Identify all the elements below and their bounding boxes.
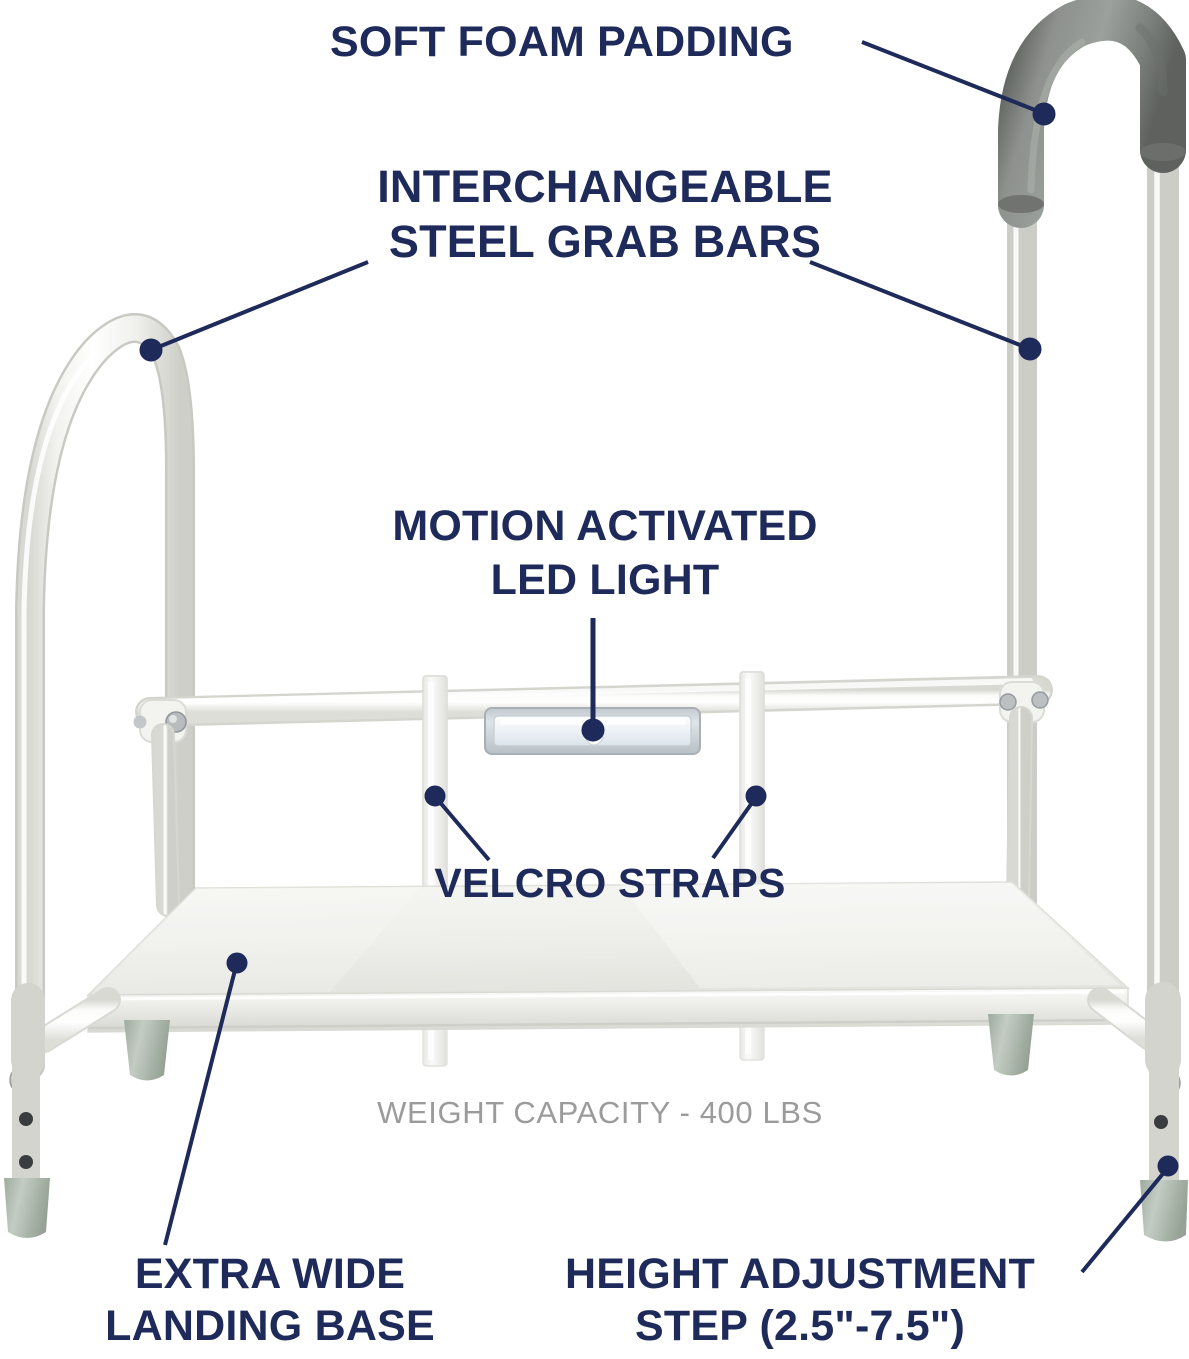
callout-interchangeable-steel-grab-bars: INTERCHANGEABLE STEEL GRAB BARS bbox=[305, 160, 905, 270]
callout-soft-foam-padding: SOFT FOAM PADDING bbox=[330, 20, 860, 66]
leader-dot-grab-bar-right bbox=[1019, 338, 1041, 360]
leader-dot-height-adjustment bbox=[1158, 1156, 1178, 1176]
leader-grab-bar-right bbox=[810, 262, 1025, 347]
base-foot-right bbox=[988, 1014, 1034, 1076]
base-foot-left bbox=[124, 1020, 170, 1081]
leg-right bbox=[1100, 1000, 1188, 1242]
leader-grab-bar-left bbox=[156, 262, 368, 348]
product-infographic: SOFT FOAM PADDING INTERCHANGEABLE STEEL … bbox=[0, 0, 1189, 1359]
leader-dot-velcro-left bbox=[425, 786, 445, 806]
callout-motion-activated-led-light: MOTION ACTIVATED LED LIGHT bbox=[320, 500, 890, 608]
leg-left bbox=[4, 1000, 108, 1238]
callout-weight-capacity: WEIGHT CAPACITY - 400 LBS bbox=[330, 1097, 870, 1130]
leader-dot-grab-bar-left bbox=[140, 339, 162, 361]
callout-extra-wide-landing-base: EXTRA WIDE LANDING BASE bbox=[40, 1248, 500, 1353]
leader-dot-led bbox=[582, 719, 604, 741]
leader-dot-soft-foam bbox=[1033, 103, 1055, 125]
leader-dot-velcro-right bbox=[746, 786, 766, 806]
callout-height-adjustment-step: HEIGHT ADJUSTMENT STEP (2.5"-7.5") bbox=[520, 1248, 1080, 1353]
leader-dot-landing-base bbox=[227, 953, 247, 973]
callout-velcro-straps: VELCRO STRAPS bbox=[400, 862, 820, 905]
